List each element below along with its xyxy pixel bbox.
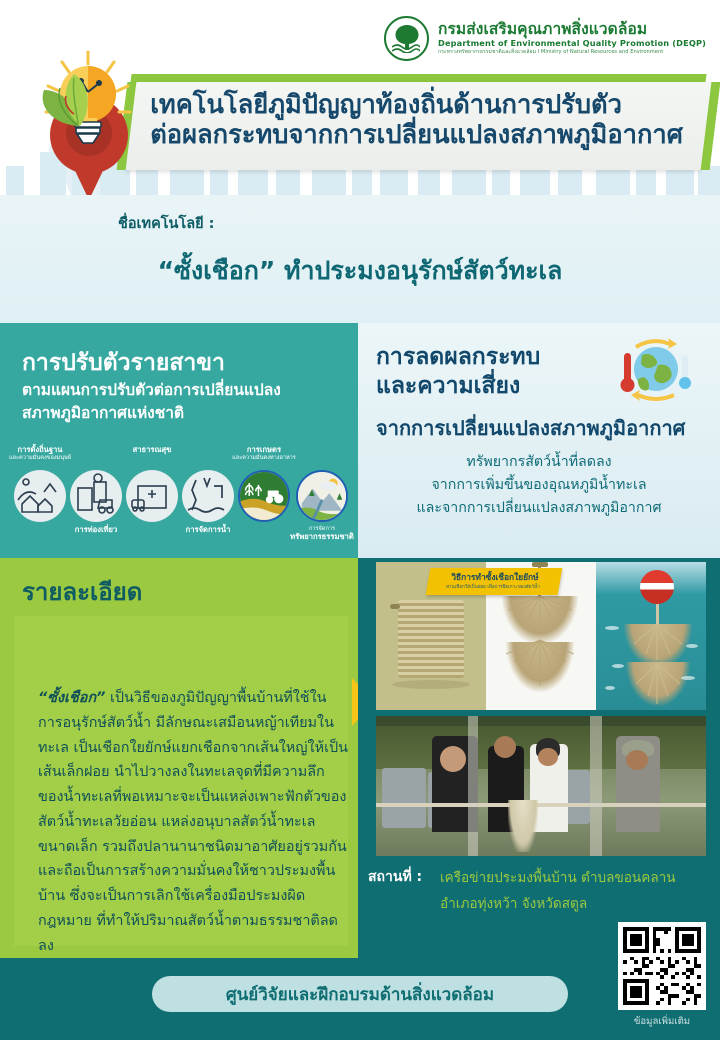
sector-item-1[interactable]: การตั้งถิ่นฐานและความมั่นคงของมนุษย์ — [14, 470, 66, 522]
adaptation-panel: การปรับตัวรายสาขา ตามแผนการปรับตัวต่อการ… — [0, 323, 358, 558]
technology-label: ชื่อเทคโนโลยี : — [118, 212, 214, 235]
sector-label: การจัดการน้ำ — [162, 526, 254, 535]
location-line2: อำเภอทุ่งหว้า จังหวัดสตูล — [440, 892, 587, 914]
photo-caption-sub: สานเชือกให้เป็นฝอย เพื่อการยึดเกาะของสัต… — [427, 584, 559, 591]
deqp-tree-water-emblem-icon — [384, 16, 429, 61]
sector-item-4[interactable]: การจัดการน้ำ — [182, 470, 234, 522]
natural-resources-mountain-icon — [296, 470, 348, 522]
deqp-logo: กรมส่งเสริมคุณภาพสิ่งแวดล้อม Department … — [384, 16, 706, 61]
mitigation-body: ทรัพยากรสัตว์น้ำที่ลดลง จากการเพิ่มขึ้นข… — [358, 451, 720, 520]
org-name-en: Department of Environmental Quality Prom… — [438, 39, 706, 48]
adaptation-subheading: ตามแผนการปรับตัวต่อการเปลี่ยนแปลง สภาพภู… — [22, 379, 342, 426]
sector-label: สาธารณสุข — [106, 446, 198, 455]
footer-text: ศูนย์วิจัยและฝึกอบรมด้านสิ่งแวดล้อม — [226, 981, 494, 1008]
lightbulb-leaf-map-pin-icon — [22, 48, 142, 195]
mitigation-heading: การลดผลกระทบ และความเสี่ยง — [376, 343, 540, 402]
sector-item-2[interactable]: การท่องเที่ยว — [70, 470, 122, 522]
poster-title-band: เทคโนโลยีภูมิปัญญาท้องถิ่นด้านการปรับตัว… — [126, 82, 712, 170]
mitigation-subheading: จากการเปลี่ยนแปลงสภาพภูมิอากาศ — [376, 412, 685, 444]
qr-code-icon[interactable] — [618, 922, 706, 1010]
poster-footer: ศูนย์วิจัยและฝึกอบรมด้านสิ่งแวดล้อม — [0, 958, 720, 1040]
sector-label: การจัดการทรัพยากรธรรมชาติ — [276, 526, 368, 542]
qr-caption: ข้อมูลเพิ่มเติม — [618, 1014, 706, 1029]
mitigation-panel: การลดผลกระทบ และความเสี่ยง จากการเปลี่ยน… — [358, 323, 720, 558]
details-body-box: “ซั้งเชือก” เป็นวิธีของภูมิปัญญาพื้นบ้าน… — [14, 616, 348, 946]
details-quoted-term: “ซั้งเชือก” — [38, 690, 105, 706]
poster-header: กรมส่งเสริมคุณภาพสิ่งแวดล้อม Department … — [0, 0, 720, 195]
photo-caption-main: วิธีการทำซั้งเชือกใยยักษ์ — [429, 568, 561, 584]
page-title-line1: เทคโนโลยีภูมิปัญญาท้องถิ่นด้านการปรับตัว — [150, 90, 707, 120]
sector-icon-row: การตั้งถิ่นฐานและความมั่นคงของมนุษย์การท… — [8, 470, 356, 558]
footer-pill: ศูนย์วิจัยและฝึกอบรมด้านสิ่งแวดล้อม — [152, 976, 568, 1012]
tourism-city-car-icon — [70, 470, 122, 522]
details-body-text: “ซั้งเชือก” เป็นวิธีของภูมิปัญญาพื้นบ้าน… — [38, 686, 348, 958]
details-panel: รายละเอียด “ซั้งเชือก” เป็นวิธีของภูมิปั… — [0, 558, 358, 958]
agriculture-wheat-tractor-icon — [238, 470, 290, 522]
photo-caption-banner: วิธีการทำซั้งเชือกใยยักษ์ สานเชือกให้เป็… — [426, 568, 563, 595]
location-line1: เครือข่ายประมงพื้นบ้าน ตำบลขอนคลาน — [440, 866, 676, 888]
page-title-line2: ต่อผลกระทบจากการเปลี่ยนแปลงสภาพภูมิอากาศ — [150, 120, 707, 150]
details-title: รายละเอียด — [22, 572, 142, 611]
settlement-houses-icon — [14, 470, 66, 522]
photo-panel: วิธีการทำซั้งเชือกใยยักษ์ สานเชือกให้เป็… — [358, 558, 720, 958]
technology-name-section: ชื่อเทคโนโลยี : “ซั้งเชือก” ทำประมงอนุรั… — [0, 195, 720, 323]
details-body: เป็นวิธีของภูมิปัญญาพื้นบ้านที่ใช้ในการอ… — [38, 690, 348, 954]
rope-reef-diagram-icon: วิธีการทำซั้งเชือกใยยักษ์ สานเชือกให้เป็… — [376, 562, 706, 710]
org-name-th: กรมส่งเสริมคุณภาพสิ่งแวดล้อม — [438, 21, 706, 39]
technology-name: “ซั้งเชือก” ทำประมงอนุรักษ์สัตว์ทะเล — [0, 251, 720, 291]
adaptation-heading: การปรับตัวรายสาขา — [22, 345, 225, 381]
sector-label: การท่องเที่ยว — [50, 526, 142, 535]
sector-item-5[interactable]: การเกษตรและความมั่นคงทางอาหาร — [238, 470, 290, 522]
water-management-river-tap-icon — [182, 470, 234, 522]
globe-thermometer-climate-icon — [616, 337, 694, 403]
sector-item-3[interactable]: สาธารณสุข — [126, 470, 178, 522]
fishermen-making-rope-photo-icon — [376, 716, 706, 856]
public-health-hospital-icon — [126, 470, 178, 522]
sector-item-6[interactable]: การจัดการทรัพยากรธรรมชาติ — [296, 470, 348, 522]
location-label: สถานที่ : — [368, 866, 422, 888]
sector-label: การตั้งถิ่นฐานและความมั่นคงของมนุษย์ — [0, 446, 86, 462]
sector-label: การเกษตรและความมั่นคงทางอาหาร — [218, 446, 310, 462]
org-ministry: กระทรวงทรัพยากรธรรมชาติและสิ่งแวดล้อม I … — [438, 50, 706, 56]
